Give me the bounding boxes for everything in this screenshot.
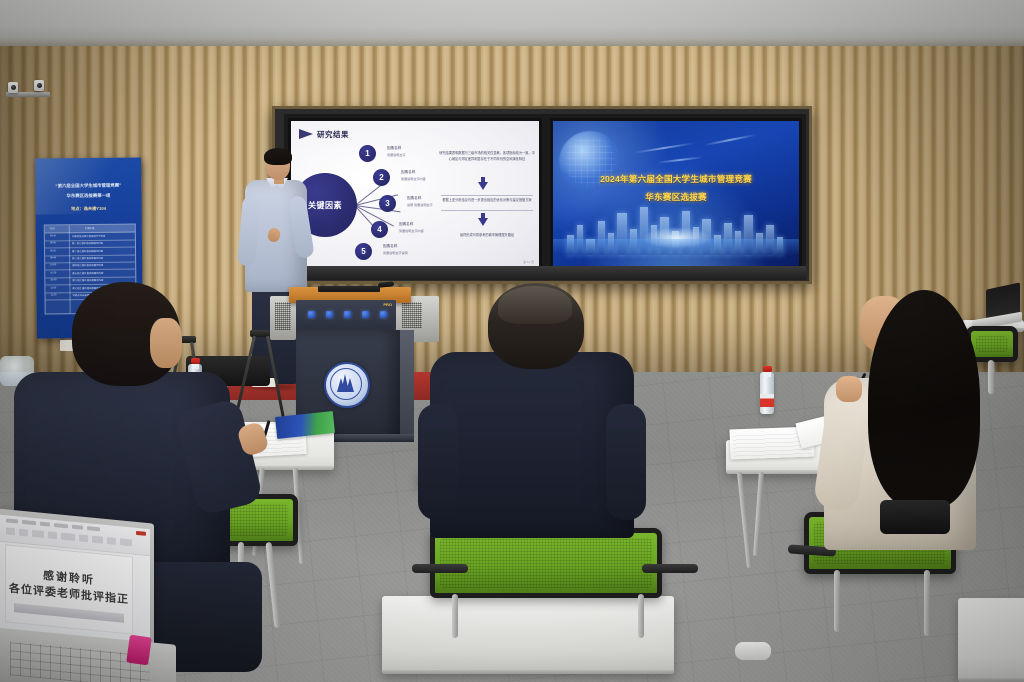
poster-cell-team: 第四组汇报队伍名称展示内容 [72,263,103,267]
poster-cell-time: 09:00 [50,242,56,245]
podium-speaker-grill [402,302,422,328]
poster-cell-time: 11:00 [50,286,56,289]
slide-node-4-sub: 简要说明文字内容 [399,229,424,234]
handbag [880,500,950,534]
slide-node-1-sub: 简要说明文字 [387,153,406,158]
water-bottle-right [760,372,774,414]
poster-cell-time: 11:20 [50,293,56,296]
camera-icon [8,82,18,93]
slide-paragraph-2: 根据上述分析结论可进一步提出相应的优化对策与建议措施方案 [441,198,533,204]
judge-right-hair [868,290,980,508]
poster-cell-time: 08:30 [50,234,56,237]
judge-left-ear-side [150,318,182,368]
podium-keyboard[interactable] [318,286,380,292]
podium-brand-label: PRO [383,302,392,307]
poster-th-team: 汇报队伍 [85,226,95,230]
slide-node-1: 1 [359,145,376,162]
judge-center-arm-right [606,404,646,520]
classroom-scene: “第六届全国大学生城市管理竞赛” 华东赛区选拔赛第一组 地点：逸夫楼Y104 时… [0,0,1024,682]
slide-paragraph-1: 研究结果表明数据与三级市场的相关性显著，各项指标较为一致，中心城区与郊区差异明显… [439,151,535,163]
poster-cell-time: 09:20 [50,249,56,252]
judge-right-shoe [735,642,771,660]
slide-node-4: 4 [371,221,388,238]
presentation-slide-thankyou: 感谢聆听 各位评委老师批评指正 [6,545,132,633]
poster-subtitle: 地点：逸夫楼Y104 [40,205,138,212]
display-left[interactable]: 研究结果 关键因素 1 2 3 4 5 因素名称 简要说明文字 因素名称 简要说… [284,114,546,274]
judge-center-hair [498,286,572,324]
desk-front-right [958,598,1024,682]
laptop-slide-footer-bar [14,603,124,623]
slide-node-2-label: 因素名称 [401,169,415,175]
poster-cell-time: 10:20 [50,271,56,274]
slide-hub-label: 关键因素 [308,200,342,211]
slide-node-5-sub: 简要说明文字说明 [383,251,408,256]
pink-item [126,635,152,666]
poster-cell-time: 10:00 [50,264,56,267]
close-icon[interactable] [136,531,146,536]
poster-cell-team: 开幕式及评委介绍说明环节安排 [72,234,106,238]
poster-cell-time: 10:40 [50,279,56,282]
poster-cell-time: 09:40 [50,256,56,259]
slide-down-arrow-icon [478,182,488,190]
slide-node-3-label: 因素名称 [407,195,421,201]
poster-cell-team: 第二组汇报队伍名称展示内容 [72,248,103,252]
slide-competition-title: 2024年第六届全国大学生城市管理竞赛 华东赛区选拔赛 [553,121,799,267]
slide-paragraph-3: 最终形成可供参考的城市管理提升路径 [441,233,533,239]
poster-cell-team: 第六组汇报队伍名称展示内容 [72,278,103,282]
slide-node-2-sub: 简要说明文字内容 [401,177,426,182]
slide-down-arrow-icon [478,218,488,226]
podium-speaker-grill [275,302,291,330]
slide-title-arrow-icon [299,129,313,139]
slide-node-1-label: 因素名称 [387,145,401,151]
slide-node-4-label: 因素名称 [399,221,413,227]
display-right[interactable]: 2024年第六届全国大学生城市管理竞赛 华东赛区选拔赛 [546,114,806,274]
poster-cell-team: 第三组汇报队伍名称展示内容 [72,256,103,260]
podium-control-panel[interactable]: PRO [296,300,396,330]
laptop-screen[interactable]: 感谢聆听 各位评委老师批评指正 [0,515,150,645]
slide-node-5-label: 因素名称 [383,243,397,249]
camera-icon [34,80,44,91]
desk-center-front [382,596,674,674]
display-brand-label [538,274,540,279]
display-bottom-bar [272,266,806,280]
poster-title-line2: 华东赛区选拔赛第一组 [39,191,137,199]
competition-title-line1: 2024年第六届全国大学生城市管理竞赛 [553,173,799,185]
city-skyline-graphic [553,199,799,255]
slide-node-3-sub: 说明 简要说明文字 [407,203,433,208]
podium-body-side [400,330,414,436]
slide-node-2: 2 [373,169,390,186]
judge-center-body [430,352,634,538]
poster-title-line1: “第六届全国大学生城市管理竞赛” [39,181,137,189]
poster-cell-team: 第五组汇报队伍名称展示内容 [72,271,103,275]
slide-research-results: 研究结果 关键因素 1 2 3 4 5 因素名称 简要说明文字 因素名称 简要说… [291,121,539,267]
slide-node-3: 3 [379,195,396,212]
judge-right-hand [836,376,862,402]
poster-cell-team: 第一组汇报队伍名称展示内容 [72,241,103,245]
slide-node-5: 5 [355,243,372,260]
slide-page-number: 第 11 页 [523,260,534,264]
judge-center-arm-left [418,404,458,520]
university-emblem-mark [336,374,354,392]
poster-th-time: 时间 [50,227,55,231]
slide-title: 研究结果 [317,129,349,140]
presenter-hair [264,148,292,165]
